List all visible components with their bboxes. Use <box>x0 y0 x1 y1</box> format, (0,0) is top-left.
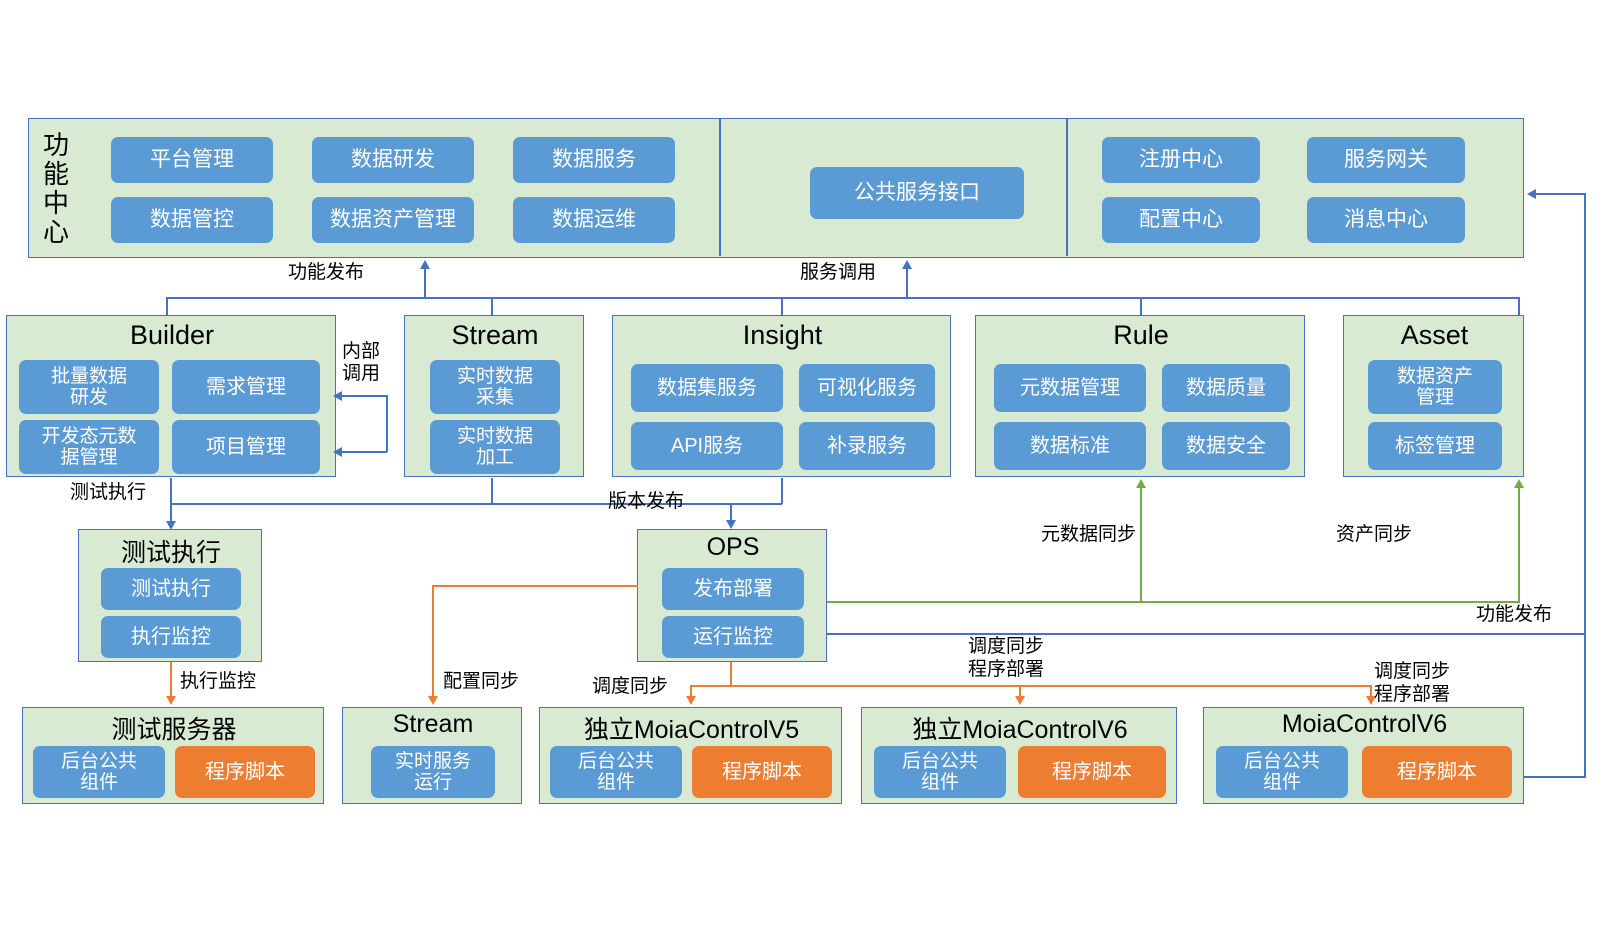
label-config-sync: 配置同步 <box>443 671 519 693</box>
box-test-exec-title: 测试执行 <box>79 533 263 569</box>
arrowhead-service-call <box>902 260 912 269</box>
chip-data-rd[interactable]: 数据研发 <box>312 137 474 183</box>
connector-internal-call-h2 <box>340 451 387 453</box>
chip-label: 标签管理 <box>1395 435 1475 457</box>
server-moia-v5-standalone-title: 独立MoiaControlV5 <box>540 710 843 746</box>
connector-ops-right-h <box>827 633 1586 635</box>
chip-backend-common[interactable]: 后台公共 组件 <box>550 746 682 798</box>
chip-runtime-monitor[interactable]: 运行监控 <box>662 616 804 658</box>
connector-rule-up <box>1140 297 1142 316</box>
panel-separator-2 <box>1066 119 1068 256</box>
chip-requirement-mgmt[interactable]: 需求管理 <box>172 360 320 414</box>
chip-label: 需求管理 <box>206 376 286 398</box>
function-center-label: 功能中心 <box>35 123 75 255</box>
server-test-server-title: 测试服务器 <box>23 710 325 746</box>
chip-service-gateway[interactable]: 服务网关 <box>1307 137 1465 183</box>
chip-label: 补录服务 <box>827 435 907 457</box>
connector-version-bus-2 <box>730 503 782 505</box>
chip-program-script[interactable]: 程序脚本 <box>692 746 832 798</box>
label-function-publish-right: 功能发布 <box>1476 604 1552 626</box>
arrowhead-internal-call-2 <box>333 447 342 457</box>
architecture-diagram: 功能中心 平台管理 数据研发 数据服务 数据管控 数据资产管理 数据运维 公共服… <box>0 0 1611 940</box>
box-ops-panel: OPS 发布部署 运行监控 <box>637 529 827 662</box>
connector-metadata-sync-v <box>1140 487 1142 602</box>
connector-internal-call-h1 <box>340 395 387 397</box>
connector-right-lower-v <box>1584 633 1586 778</box>
chip-backend-common[interactable]: 后台公共 组件 <box>33 746 165 798</box>
chip-config-center[interactable]: 配置中心 <box>1102 197 1260 243</box>
connector-internal-call-v <box>386 395 388 452</box>
arrowhead-schedule-v6s <box>1015 696 1025 705</box>
chip-label: 程序脚本 <box>1052 761 1132 783</box>
module-insight-title: Insight <box>613 320 952 351</box>
connector-version-from-insight <box>781 478 783 504</box>
arrowhead-right-loop <box>1527 189 1536 199</box>
box-ops-title: OPS <box>638 533 828 562</box>
chip-dataset-service[interactable]: 数据集服务 <box>631 364 783 412</box>
connector-right-loop-v <box>1584 193 1586 634</box>
chip-program-script[interactable]: 程序脚本 <box>1018 746 1166 798</box>
connector-right-loop-top <box>1534 193 1586 195</box>
server-moia-v6-standalone-panel: 独立MoiaControlV6 后台公共 组件 程序脚本 <box>861 707 1177 804</box>
chip-label: 运行监控 <box>693 626 773 648</box>
connector-function-publish <box>424 267 426 298</box>
chip-public-service-api[interactable]: 公共服务接口 <box>810 167 1024 219</box>
chip-label: 发布部署 <box>693 578 773 600</box>
chip-label: 实时数据 采集 <box>457 366 533 409</box>
connector-asset-sync-h <box>1140 601 1520 603</box>
chip-label: 项目管理 <box>206 436 286 458</box>
chip-label: 数据资产 管理 <box>1397 366 1473 409</box>
chip-label: 后台公共 组件 <box>1244 751 1320 794</box>
chip-realtime-collect[interactable]: 实时数据 采集 <box>430 360 560 414</box>
chip-project-mgmt[interactable]: 项目管理 <box>172 420 320 474</box>
server-moia-v6-standalone-title: 独立MoiaControlV6 <box>862 710 1178 746</box>
chip-data-asset-mgmt-2[interactable]: 数据资产 管理 <box>1368 360 1502 414</box>
chip-data-quality[interactable]: 数据质量 <box>1162 364 1290 412</box>
module-rule-title: Rule <box>976 320 1306 351</box>
label-asset-sync: 资产同步 <box>1336 524 1412 546</box>
connector-config-sync-h <box>432 585 638 587</box>
arrowhead-internal-call-1 <box>333 391 342 401</box>
connector-test-exec-v <box>170 478 172 526</box>
chip-backend-common[interactable]: 后台公共 组件 <box>1216 746 1348 798</box>
connector-module-bus <box>166 297 1519 299</box>
connector-stream-up <box>491 297 493 316</box>
chip-data-security[interactable]: 数据安全 <box>1162 422 1290 470</box>
arrowhead-exec-monitor <box>166 696 176 705</box>
chip-label: 实时服务 运行 <box>395 751 471 794</box>
chip-label: 批量数据 研发 <box>51 366 127 409</box>
chip-data-standard[interactable]: 数据标准 <box>994 422 1146 470</box>
chip-label: 程序脚本 <box>205 761 285 783</box>
label-internal-call: 内部 调用 <box>342 341 380 385</box>
server-moia-v6-panel: MoiaControlV6 后台公共 组件 程序脚本 <box>1203 707 1524 804</box>
chip-label: 开发态元数 据管理 <box>41 426 136 469</box>
chip-exec-monitor[interactable]: 执行监控 <box>101 616 241 658</box>
connector-service-call <box>906 267 908 298</box>
chip-realtime-service-run[interactable]: 实时服务 运行 <box>371 746 495 798</box>
label-schedule-sync: 调度同步 <box>592 676 668 698</box>
connector-config-sync-v <box>432 585 434 700</box>
label-function-publish-top: 功能发布 <box>288 262 364 284</box>
arrowhead-asset-sync <box>1514 479 1524 488</box>
chip-test-exec[interactable]: 测试执行 <box>101 568 241 610</box>
server-moia-v6-title: MoiaControlV6 <box>1204 710 1525 739</box>
connector-version-from-stream <box>491 478 493 504</box>
chip-label: 程序脚本 <box>1397 761 1477 783</box>
connector-insight-up <box>781 297 783 316</box>
chip-label: 数据质量 <box>1186 377 1266 399</box>
connector-asset-sync-v <box>1518 487 1520 602</box>
arrowhead-test-exec <box>166 521 176 530</box>
server-test-server-panel: 测试服务器 后台公共 组件 程序脚本 <box>22 707 324 804</box>
chip-label: 数据安全 <box>1186 435 1266 457</box>
server-stream-title: Stream <box>343 710 523 739</box>
chip-label: 后台公共 组件 <box>61 751 137 794</box>
label-exec-monitor: 执行监控 <box>180 671 256 693</box>
chip-data-asset-mgmt[interactable]: 数据资产管理 <box>312 197 474 243</box>
chip-label: 后台公共 组件 <box>902 751 978 794</box>
chip-platform-mgmt[interactable]: 平台管理 <box>111 137 273 183</box>
connector-schedule-bus-h <box>690 685 1370 687</box>
arrowhead-version-publish <box>726 520 736 529</box>
chip-backend-common[interactable]: 后台公共 组件 <box>874 746 1006 798</box>
chip-batch-data-rd[interactable]: 批量数据 研发 <box>19 360 159 414</box>
module-stream-title: Stream <box>405 320 585 351</box>
chip-data-ops[interactable]: 数据运维 <box>513 197 675 243</box>
label-version-publish: 版本发布 <box>608 491 684 513</box>
chip-dev-metadata-mgmt[interactable]: 开发态元数 据管理 <box>19 420 159 474</box>
arrowhead-function-publish <box>420 260 430 269</box>
label-metadata-sync: 元数据同步 <box>1041 524 1136 546</box>
module-stream-panel: Stream 实时数据 采集 实时数据 加工 <box>404 315 584 477</box>
chip-label: 可视化服务 <box>817 377 917 399</box>
chip-label: 实时数据 加工 <box>457 426 533 469</box>
connector-metadata-sync-h <box>827 601 1141 603</box>
chip-api-service[interactable]: API服务 <box>631 422 783 470</box>
server-stream-panel: Stream 实时服务 运行 <box>342 707 522 804</box>
chip-label: 测试执行 <box>131 578 211 600</box>
connector-right-lower-h <box>1524 776 1585 778</box>
connector-builder-up <box>166 297 168 316</box>
module-asset-title: Asset <box>1344 320 1525 351</box>
chip-label: 程序脚本 <box>722 761 802 783</box>
label-test-execute: 测试执行 <box>70 482 146 504</box>
connector-schedule-bus-v <box>730 662 732 686</box>
chip-program-script[interactable]: 程序脚本 <box>1362 746 1512 798</box>
chip-label: 元数据管理 <box>1020 377 1120 399</box>
arrowhead-config-sync <box>428 696 438 705</box>
chip-label: API服务 <box>671 435 743 457</box>
chip-message-center[interactable]: 消息中心 <box>1307 197 1465 243</box>
chip-registry-center[interactable]: 注册中心 <box>1102 137 1260 183</box>
module-rule-panel: Rule 元数据管理 数据质量 数据标准 数据安全 <box>975 315 1305 477</box>
module-insight-panel: Insight 数据集服务 可视化服务 API服务 补录服务 <box>612 315 951 477</box>
panel-separator-1 <box>719 119 721 256</box>
module-asset-panel: Asset 数据资产 管理 标签管理 <box>1343 315 1524 477</box>
module-builder-panel: Builder 批量数据 研发 需求管理 开发态元数 据管理 项目管理 <box>6 315 336 477</box>
chip-label: 数据集服务 <box>657 377 757 399</box>
chip-supplement-service[interactable]: 补录服务 <box>799 422 935 470</box>
chip-data-governance[interactable]: 数据管控 <box>111 197 273 243</box>
chip-label: 执行监控 <box>131 626 211 648</box>
server-moia-v5-standalone-panel: 独立MoiaControlV5 后台公共 组件 程序脚本 <box>539 707 842 804</box>
chip-visualization-service[interactable]: 可视化服务 <box>799 364 935 412</box>
module-builder-title: Builder <box>7 320 337 351</box>
label-service-call: 服务调用 <box>800 262 876 284</box>
chip-label: 数据标准 <box>1030 435 1110 457</box>
arrowhead-metadata-sync <box>1136 479 1146 488</box>
chip-realtime-process[interactable]: 实时数据 加工 <box>430 420 560 474</box>
chip-program-script[interactable]: 程序脚本 <box>175 746 315 798</box>
connector-asset-up <box>1518 297 1520 316</box>
chip-data-service[interactable]: 数据服务 <box>513 137 675 183</box>
arrowhead-schedule-v5 <box>686 696 696 705</box>
box-test-exec-panel: 测试执行 测试执行 执行监控 <box>78 529 262 662</box>
chip-tag-mgmt[interactable]: 标签管理 <box>1368 422 1502 470</box>
chip-release-deploy[interactable]: 发布部署 <box>662 568 804 610</box>
label-schedule-deploy-mid: 调度同步 程序部署 <box>968 636 1044 682</box>
chip-metadata-mgmt[interactable]: 元数据管理 <box>994 364 1146 412</box>
connector-exec-monitor-v <box>170 662 172 700</box>
label-schedule-deploy-right: 调度同步 程序部署 <box>1374 661 1450 707</box>
chip-label: 后台公共 组件 <box>578 751 654 794</box>
function-center-panel: 功能中心 平台管理 数据研发 数据服务 数据管控 数据资产管理 数据运维 公共服… <box>28 118 1524 258</box>
